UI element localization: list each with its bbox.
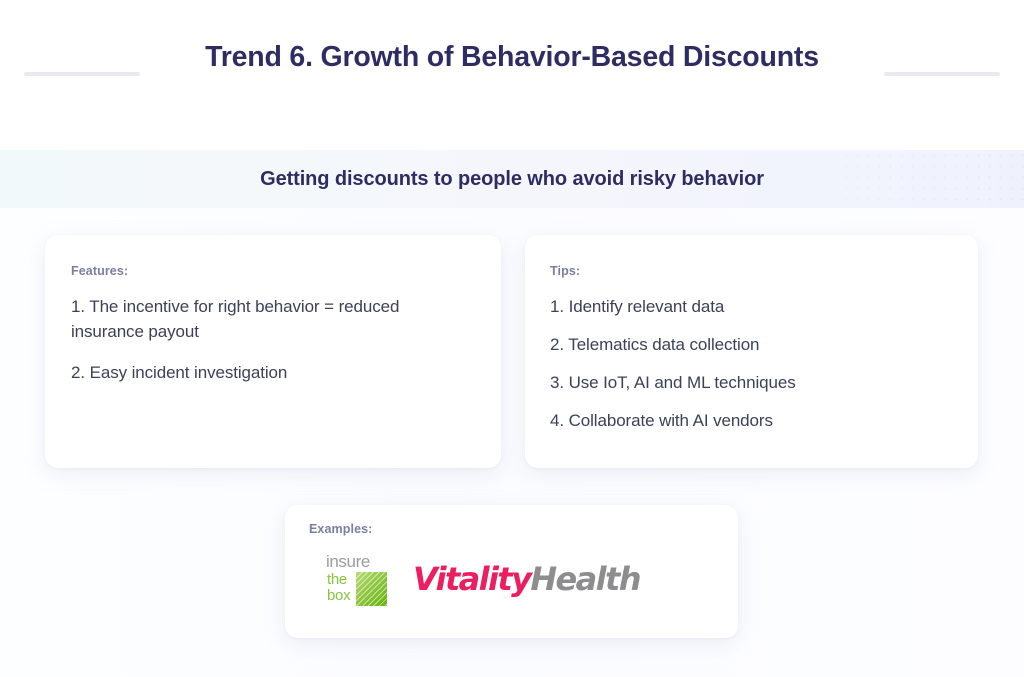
insure-the-box-logo: insure the box	[326, 552, 386, 606]
vitality-health-logo: VitalityHealth	[413, 561, 640, 597]
tips-item: 2. Telematics data collection	[550, 332, 978, 357]
subtitle-band: Getting discounts to people who avoid ri…	[0, 150, 1024, 208]
slide-root: Trend 6. Growth of Behavior-Based Discou…	[0, 0, 1024, 677]
tips-label: Tips:	[550, 264, 978, 278]
features-label: Features:	[71, 264, 501, 278]
tips-item: 3. Use IoT, AI and ML techniques	[550, 370, 978, 395]
vitality-health-logo-part2: Health	[530, 560, 640, 598]
insure-the-box-logo-line3: box	[327, 587, 350, 604]
page-title: Trend 6. Growth of Behavior-Based Discou…	[192, 38, 832, 77]
tips-card: Tips: 1. Identify relevant data 2. Telem…	[525, 235, 978, 468]
vitality-health-logo-part1: Vitality	[413, 560, 530, 598]
decorative-rule-left	[24, 72, 140, 76]
examples-card: Examples: insure the box VitalityHealth	[285, 505, 738, 638]
slide-body: Features: 1. The incentive for right beh…	[0, 208, 1024, 677]
insure-the-box-logo-line2: the	[327, 571, 347, 588]
features-item: 2. Easy incident investigation	[71, 360, 441, 385]
examples-logo-row: insure the box VitalityHealth	[309, 552, 738, 606]
features-card: Features: 1. The incentive for right beh…	[45, 235, 501, 468]
insure-the-box-logo-line1: insure	[326, 552, 370, 571]
insure-the-box-green-square-icon	[356, 572, 387, 606]
slide-header: Trend 6. Growth of Behavior-Based Discou…	[0, 0, 1024, 150]
features-item: 1. The incentive for right behavior = re…	[71, 294, 441, 344]
tips-item: 1. Identify relevant data	[550, 294, 978, 319]
examples-label: Examples:	[309, 522, 738, 536]
decorative-rule-right	[884, 72, 1000, 76]
tips-item: 4. Collaborate with AI vendors	[550, 408, 978, 433]
subtitle-text: Getting discounts to people who avoid ri…	[0, 150, 1024, 208]
